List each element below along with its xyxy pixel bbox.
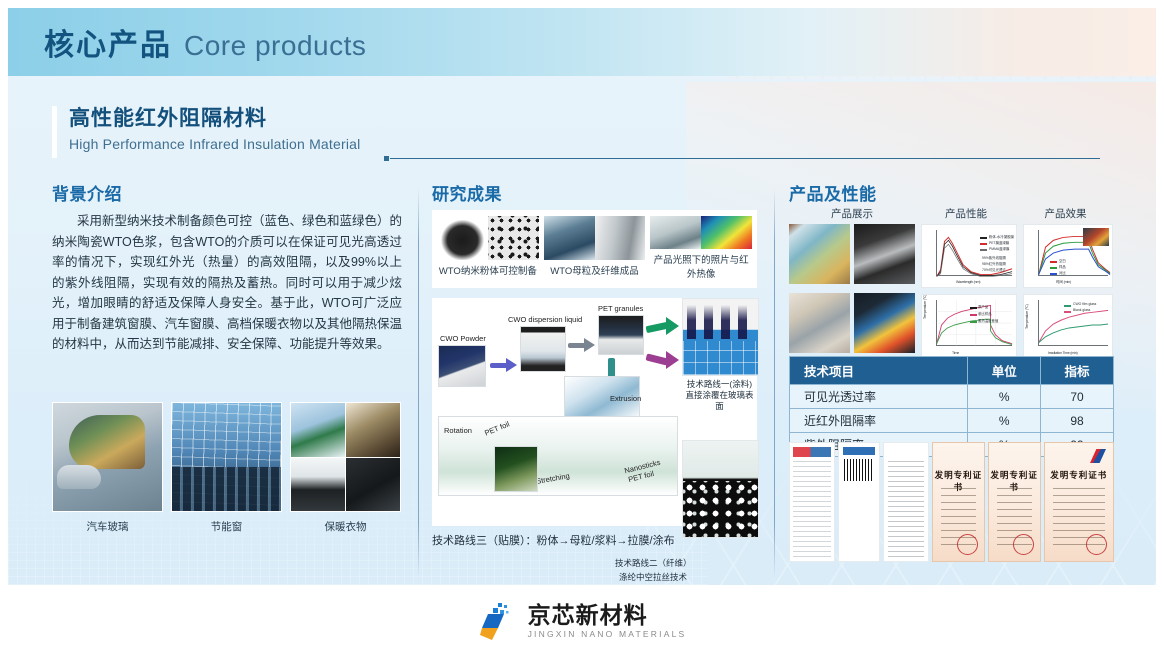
product-media-row: 粉体-水冷凝胶膜 PET膜蓝绿膜 PMMA蓝绿膜 99%紫外线阻隔 98%红外热… [789,224,1114,358]
route-one-caption-line1: 技术路线一(涂料) [682,379,757,390]
legend-item: CWO film glass [1073,302,1096,306]
column-product: 产品及性能 产品展示 产品性能 产品效果 [789,180,1114,211]
sub-header-effect: 产品效果 [1017,206,1114,221]
legend-item: 空白 [1059,258,1066,263]
patent-title: 发明专利证书 [1045,469,1114,481]
legend-item: 粉体-水冷凝胶膜 [989,234,1014,239]
cwo-powder-photo [438,345,486,387]
route-two-caption-block: 技术路线二（纤维） 涤纶中空拉丝技术 [615,555,691,583]
table-cell-item: 近红外阻隔率 [790,409,968,433]
film-sample-photo [494,446,538,492]
photo-card-thermal-clothing: 保暖衣物 [290,402,401,534]
section-divider-rule [390,158,1100,159]
research-photo-thermal: 产品光照下的照片与红外热像 [650,216,752,282]
column-background: 背景介绍 采用新型纳米技术制备颜色可控（蓝色、绿色和蓝绿色）的纳米陶瓷WTO色浆… [52,180,402,355]
chart-xlabel: Wavelength (nm) [956,280,980,284]
legend-item: Blank glass [1073,308,1090,312]
header-title-group: 核心产品 Core products [44,20,366,64]
tinted-glass-samples-photo [789,224,850,284]
table-header-item: 技术项目 [790,357,968,385]
cwo-dispersion-photo [520,326,566,372]
section-title-block: 高性能红外阻隔材料 High Performance Infrared Insu… [52,106,360,158]
performance-charts: 粉体-水冷凝胶膜 PET膜蓝绿膜 PMMA蓝绿膜 99%紫外线阻隔 98%红外热… [921,224,1017,358]
film-line-illustration [438,416,678,496]
research-side-routes: 技术路线一(涂料) 直接涂覆在玻璃表面 [682,298,757,538]
wto-powder-photo [437,216,539,260]
table-row: 近红外阻隔率 % 98 [790,409,1114,433]
background-title: 背景介绍 [52,180,402,205]
background-photo-row: 汽车玻璃 节能窗 保暖衣物 [52,402,402,534]
chart-annotation: 70%可见光透过 [982,267,1006,272]
chart-heating-cooling: 空白 样品 对比 时间 (min) [1023,224,1113,288]
route-two-card [682,440,757,538]
research-photo-powder: WTO纳米粉体可控制备 [437,216,539,282]
chart-temperature-curve: 原产品 参比样品 蓄热温度差值 Time Temperature (°C) [921,294,1017,358]
logo-name-cn: 京芯新材料 [528,603,687,628]
route-two-caption-line2: 涤纶中空拉丝技术 [615,572,691,583]
chart-annotation: 98%红外热阻隔 [982,261,1006,266]
test-report-cttc [789,442,835,562]
photo-caption: 保暖衣物 [290,520,401,534]
car-glass-photo [52,402,163,512]
test-report-doc [883,442,929,562]
chart-transmittance-spectrum: 粉体-水冷凝胶膜 PET膜蓝绿膜 PMMA蓝绿膜 99%紫外线阻隔 98%红外热… [921,224,1017,288]
column-divider-right [774,188,775,578]
table-header-row: 技术项目 单位 指标 [790,357,1114,385]
column-research: 研究成果 WTO纳米粉体可控制备 WTO母粒及纤维成品 产品光照下的照片与红外热… [432,180,772,211]
legend-item: 蓄热温度差值 [978,318,998,323]
legend-item: 对比 [1059,270,1066,275]
slide-footer: 京芯新材料 JINGXIN NANO MATERIALS [8,585,1156,657]
product-sub-headers: 产品展示 产品性能 产品效果 [789,206,1114,221]
photo-caption: 汽车玻璃 [52,520,163,534]
legend-item: PET膜蓝绿膜 [989,240,1009,245]
product-title: 产品及性能 [789,180,1114,205]
background-paragraph: 采用新型纳米技术制备颜色可控（蓝色、绿色和蓝绿色）的纳米陶瓷WTO色浆，包含WT… [52,211,402,355]
flow-arrow-1 [490,358,516,372]
wto-masterbatch-photo [544,216,646,260]
photo-card-energy-window: 节能窗 [171,402,282,534]
chart-ylabel: Temperature (℃) [1025,304,1029,329]
slide-root: 核心产品 Core products 高性能红外阻隔材料 High Perfor… [0,0,1164,657]
patent-seal-icon [957,534,978,555]
sub-header-display: 产品展示 [789,206,915,221]
effect-charts: 空白 样品 对比 时间 (min) CWO [1023,224,1113,358]
research-title: 研究成果 [432,180,772,205]
route-one-caption-line2: 直接涂覆在玻璃表面 [682,390,757,412]
table-row: 可见光透过率 % 70 [790,385,1114,409]
table-cell-value: 70 [1041,385,1114,409]
flow-label-cwo-dispersion: CWO dispersion liquid [508,315,582,324]
slide-canvas: 核心产品 Core products 高性能红外阻隔材料 High Perfor… [8,8,1156,585]
legend-item: PMMA蓝绿膜 [989,246,1009,251]
flow-label-cwo-powder: CWO Powder [440,334,486,343]
patent-certificate-1: 发明专利证书 [932,442,985,562]
patent-certificate-3: 发明专利证书 [1044,442,1115,562]
photo-card-car-glass: 汽车玻璃 [52,402,163,534]
patent-seal-icon [1013,534,1034,555]
table-cell-unit: % [968,385,1041,409]
product-display-grid [789,224,915,358]
chart-annotation: 99%紫外线阻隔 [982,255,1006,260]
table-cell-value: 98 [1041,409,1114,433]
certificate-row: 发明专利证书 发明专利证书 发明专利证书 [789,442,1114,562]
sub-header-performance: 产品性能 [915,206,1017,221]
infrared-thermal-photo [650,216,752,249]
research-top-photos: WTO纳米粉体可控制备 WTO母粒及纤维成品 产品光照下的照片与红外热像 [432,210,757,288]
energy-saving-window-photo [171,402,282,512]
flow-arrow-purple [646,350,680,366]
table-cell-unit: % [968,409,1041,433]
thermal-clothing-photo [290,402,401,512]
research-photo-caption: WTO母粒及纤维成品 [544,265,646,279]
flow-label-pet-granules: PET granules [598,304,643,313]
patent-logo-icon [1090,449,1106,463]
inset-thermal-photo [1083,228,1109,246]
column-divider-left [418,188,419,578]
company-logo: 京芯新材料 JINGXIN NANO MATERIALS [478,601,687,641]
legend-item: 原产品 [978,304,988,309]
section-accent-bar [52,106,57,158]
research-photo-caption: WTO纳米粉体可控制备 [437,265,539,279]
legend-item: 参比样品 [978,311,992,316]
header-title-en: Core products [184,30,366,62]
logo-name-en: JINGXIN NANO MATERIALS [528,628,687,640]
table-header-unit: 单位 [968,357,1041,385]
route-two-caption-line1: 技术路线二（纤维） [615,558,691,569]
pet-granules-photo [598,315,644,355]
logo-mark-icon [478,601,518,641]
chart-irradiation-temperature: CWO film glass Blank glass Irradiation T… [1023,294,1113,358]
slide-header: 核心产品 Core products [8,8,1156,76]
legend-item: 样品 [1059,264,1066,269]
flow-label-rotation: Rotation [444,426,472,435]
hollow-fiber-photo [682,440,759,538]
patent-certificate-2: 发明专利证书 [988,442,1041,562]
flow-arrow-2 [568,338,594,352]
patent-seal-icon [1086,534,1107,555]
thermal-camera-photo [854,293,915,353]
test-report-barcode [838,442,880,562]
flow-label-extrusion: Extrusion [610,394,641,403]
research-photo-masterbatch: WTO母粒及纤维成品 [544,216,646,282]
flow-arrow-green [646,318,680,334]
chart-xlabel: 时间 (min) [1056,280,1071,285]
table-header-value: 指标 [1041,357,1114,385]
chart-xlabel: Irradiation Time (min) [1048,351,1078,355]
packed-granules-photo [854,224,915,284]
route-one-card: 技术路线一(涂料) 直接涂覆在玻璃表面 [682,298,757,412]
logo-text-block: 京芯新材料 JINGXIN NANO MATERIALS [528,603,687,640]
table-cell-item: 可见光透过率 [790,385,968,409]
chart-xlabel: Time [952,351,959,355]
chart-ylabel: Temperature (°C) [923,295,927,319]
section-title-cn: 高性能红外阻隔材料 [69,106,360,132]
header-title-cn: 核心产品 [44,20,172,64]
coating-vials-photo [682,298,759,376]
research-photo-caption: 产品光照下的照片与红外热像 [650,254,752,282]
section-title-en: High Performance Infrared Insulation Mat… [69,134,360,154]
photo-caption: 节能窗 [171,520,282,534]
fabric-sleeve-photo [789,293,850,353]
